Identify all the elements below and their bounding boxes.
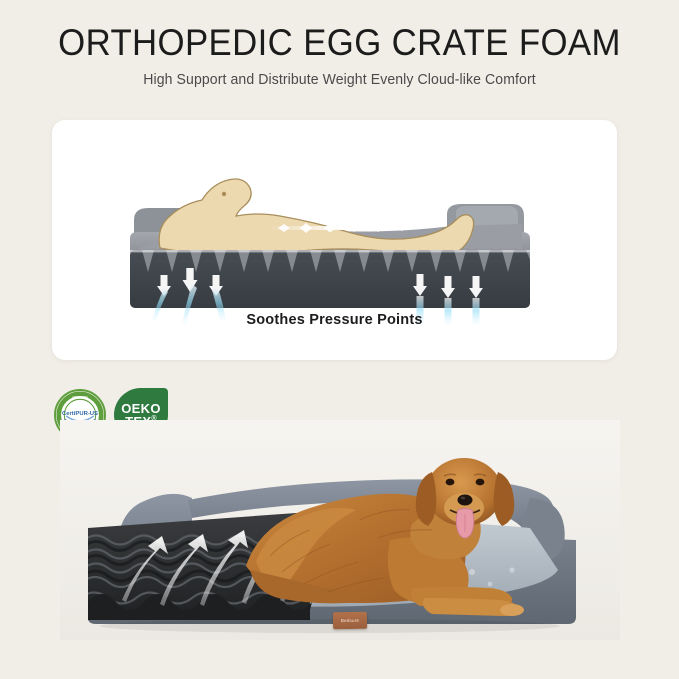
- product-photo: [60, 420, 620, 640]
- foam-seam: [130, 250, 530, 252]
- bed-shadow: [100, 619, 560, 633]
- spine-highlight: [270, 226, 410, 230]
- dog-on-bed-photo: [60, 420, 620, 640]
- dog-paw: [500, 604, 524, 616]
- dog-eye-right: [476, 479, 485, 486]
- dog-eye-left: [446, 479, 455, 486]
- diagram-caption: Soothes Pressure Points: [52, 312, 617, 328]
- brand-tag: Bedsure: [333, 612, 367, 630]
- svg-text:CertiPUR-US: CertiPUR-US: [62, 411, 98, 417]
- product-feature-page: ORTHOPEDIC EGG CRATE FOAM High Support a…: [0, 0, 679, 679]
- svg-text:CERTIFIED: CERTIFIED: [72, 395, 87, 399]
- page-subtitle: High Support and Distribute Weight Evenl…: [10, 70, 669, 90]
- illustration-card: Soothes Pressure Points: [52, 120, 617, 360]
- dog-ear-detail: [222, 192, 226, 196]
- dog-nose: [458, 495, 473, 506]
- oeko-tex-line1: OEKO: [121, 402, 160, 415]
- page-title: ORTHOPEDIC EGG CRATE FOAM: [20, 22, 658, 64]
